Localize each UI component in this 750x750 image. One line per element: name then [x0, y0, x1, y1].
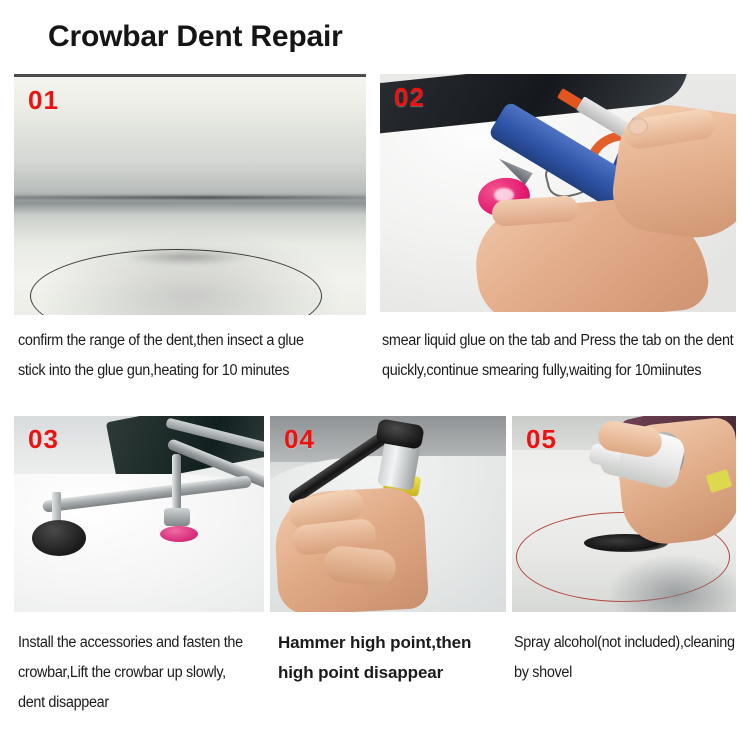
caption-line: Spray alcohol(not included),cleaning — [514, 628, 733, 658]
step-image-02: 02 — [380, 74, 736, 312]
step-image-05: 05 — [512, 416, 736, 612]
step-badge-02: 02 — [394, 82, 425, 113]
page-title: Crowbar Dent Repair — [48, 20, 343, 54]
puller-screw — [172, 454, 181, 516]
step-badge-04: 04 — [284, 424, 315, 455]
bridge-rubber-foot — [32, 520, 86, 556]
caption-line: smear liquid glue on the tab and Press t… — [382, 326, 724, 356]
caption-line: high point disappear — [278, 658, 508, 688]
caption-line: by shovel — [514, 658, 733, 688]
pink-pulling-tab — [160, 526, 198, 542]
step-caption-04: Hammer high point,then high point disapp… — [278, 628, 508, 688]
caption-line: stick into the glue gun,heating for 10 m… — [18, 356, 344, 386]
caption-line: quickly,continue smearing fully,waiting … — [382, 356, 724, 386]
step-badge-01: 01 — [28, 85, 59, 116]
instruction-sheet: Crowbar Dent Repair 01 confirm the range… — [0, 0, 750, 750]
caption-line: Hammer high point,then — [278, 628, 508, 658]
step-caption-03: Install the accessories and fasten the c… — [18, 628, 251, 718]
caption-line: dent disappear — [18, 688, 251, 718]
step-badge-05: 05 — [526, 424, 557, 455]
dent-outline-oval — [30, 249, 322, 315]
puller-knob — [164, 508, 190, 526]
step-image-04: 04 — [270, 416, 506, 612]
step-image-01: 01 — [14, 74, 366, 315]
caption-line: crowbar,Lift the crowbar up slowly, — [18, 658, 251, 688]
step-badge-03: 03 — [28, 424, 59, 455]
caption-line: Install the accessories and fasten the — [18, 628, 251, 658]
step-caption-01: confirm the range of the dent,then insec… — [18, 326, 344, 386]
body-crease-line — [14, 196, 366, 199]
step-caption-02: smear liquid glue on the tab and Press t… — [382, 326, 724, 386]
step-caption-05: Spray alcohol(not included),cleaning by … — [514, 628, 733, 688]
step-image-03: 03 — [14, 416, 264, 612]
caption-line: confirm the range of the dent,then insec… — [18, 326, 344, 356]
